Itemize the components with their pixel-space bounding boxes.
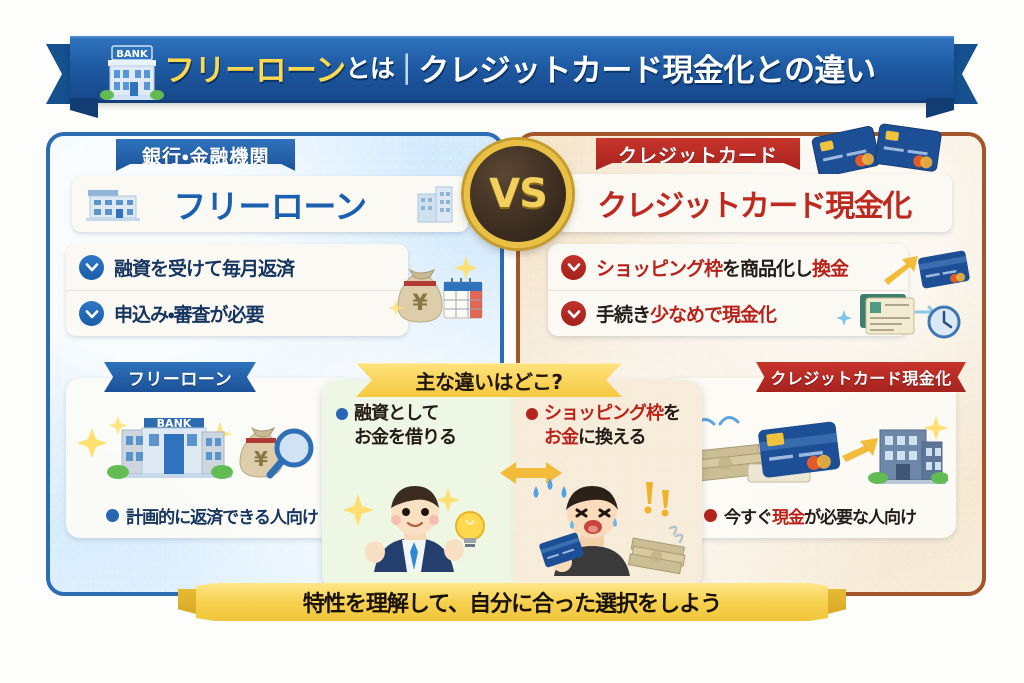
tall-building-icon (412, 184, 458, 224)
ribbon-fold-right (926, 98, 954, 118)
check-circle-icon (561, 255, 586, 280)
caption-part: が必要な人向け (804, 508, 916, 528)
left-card-ribbon: フリーローン (104, 362, 256, 392)
check-circle-icon (79, 301, 104, 326)
bank-moneybag-magnifier-illustration: BANK ¥ (74, 402, 350, 494)
ribbon-fold-left (70, 98, 98, 118)
bullet-dot-icon (704, 509, 717, 522)
center-right-text1-rest: を (663, 403, 680, 424)
bullet-text-part: 手続き (596, 304, 650, 326)
bullet-dot-icon (106, 509, 119, 522)
bullet-text-part: 少なめで現金化 (650, 304, 776, 326)
left-bullet-box: 融資を受けて毎月返済 申込み・審査が必要 (66, 244, 408, 336)
vs-label: VS (489, 171, 547, 217)
magnifier-icon (270, 431, 311, 475)
title-part-credit: クレジットカード現金化との違い (418, 45, 875, 90)
office-building-icon (84, 186, 142, 222)
center-right-text1-red: ショッピング枠 (544, 403, 663, 424)
center-right-text1: ショッピング枠を (544, 402, 680, 426)
bullet-row: 申込み・審査が必要 (66, 290, 408, 336)
center-left-text1: 融資として (354, 402, 438, 426)
center-right-line2: お金に換える (526, 426, 688, 450)
bottom-banner: 特性を理解して、自分に合った選択をしよう (196, 583, 828, 621)
center-right-text2-red: お金 (544, 427, 578, 448)
left-card-caption-text: 計画的に返済できる人向け (126, 503, 318, 528)
center-left-text2: お金を借りる (354, 426, 456, 450)
bullet-row: ショッピング枠を商品化し換金 (548, 244, 908, 290)
right-bullet-box: ショッピング枠を商品化し換金 手続き少なめで現金化 (548, 244, 908, 336)
bullet-row: 融資を受けて毎月返済 (66, 244, 408, 290)
right-title-plate: クレジットカード現金化 (556, 174, 952, 232)
right-card-ribbon-label: クレジットカード現金化 (770, 365, 952, 389)
left-title-plate: フリーローン (72, 176, 468, 232)
bullet-text-part: ショッピング枠 (596, 258, 722, 280)
left-lower-card: BANK ¥ 計画的に返済できる人向け (66, 378, 358, 538)
bullet-dot-icon (526, 408, 538, 420)
caption-part: 現金 (772, 508, 804, 528)
bullet-text-part: を商品化し (722, 258, 812, 280)
sparkle-icon (924, 416, 948, 440)
center-right-text2-rest: に換える (578, 427, 645, 448)
check-circle-icon (79, 255, 104, 280)
center-right-half: ショッピング枠を お金に換える (512, 402, 702, 450)
header-ribbon: BANK フリーローン とは | クレジットカード現金化との違い (46, 36, 978, 98)
title-divider: | (401, 49, 411, 85)
header-title: フリーローン とは | クレジットカード現金化との違い (164, 36, 876, 98)
check-circle-icon (561, 301, 586, 326)
center-card-ribbon: 主な違いはどこ? (356, 363, 622, 397)
title-part-toha: とは (345, 49, 394, 85)
infographic-root: BANK フリーローン とは | クレジットカード現金化との違い (0, 0, 1024, 683)
bullet-text: 融資を受けて毎月返済 (114, 254, 294, 281)
center-left-line2: お金を借りる (336, 426, 498, 450)
title-part-free-loan: フリーローン (164, 45, 345, 90)
right-card-caption: 今すぐ現金が必要な人向け (664, 503, 956, 528)
bullet-dot-icon (336, 408, 348, 420)
right-panel-title: クレジットカード現金化 (597, 181, 911, 225)
left-card-caption: 計画的に返済できる人向け (66, 503, 358, 528)
bullet-text: 申込み・審査が必要 (114, 300, 263, 327)
bank-building-icon: BANK (98, 40, 166, 102)
svg-text:¥: ¥ (254, 447, 268, 471)
bullet-row: 手続き少なめで現金化 (548, 290, 908, 336)
cash-card-building-illustration (674, 402, 948, 496)
right-card-caption-text: 今すぐ現金が必要な人向け (724, 503, 916, 528)
center-right-line1: ショッピング枠を (526, 402, 688, 426)
caption-part: 今すぐ (724, 508, 772, 528)
bullet-text-part: 換金 (812, 258, 848, 280)
center-left-half: 融資として お金を借りる (322, 402, 512, 450)
right-card-ribbon: クレジットカード現金化 (756, 362, 966, 392)
left-card-ribbon-label: フリーローン (128, 365, 232, 390)
left-panel-title: フリーローン (173, 180, 366, 228)
center-card-ribbon-label: 主な違いはどこ? (415, 366, 562, 395)
bullet-text: 手続き少なめで現金化 (596, 300, 776, 327)
vs-badge: VS (464, 140, 572, 248)
bottom-banner-text: 特性を理解して、自分に合った選択をしよう (303, 586, 721, 618)
bank-icon-label: BANK (116, 49, 149, 60)
bullet-text: ショッピング枠を商品化し換金 (596, 254, 848, 281)
right-lower-card: 今すぐ現金が必要な人向け (664, 378, 956, 538)
center-right-text2: お金に換える (544, 426, 645, 450)
center-left-line1: 融資として (336, 402, 498, 426)
double-headed-arrow-icon (500, 460, 562, 486)
center-comparison-card: 融資として お金を借りる ショッピング枠を お金に換える (322, 380, 702, 588)
